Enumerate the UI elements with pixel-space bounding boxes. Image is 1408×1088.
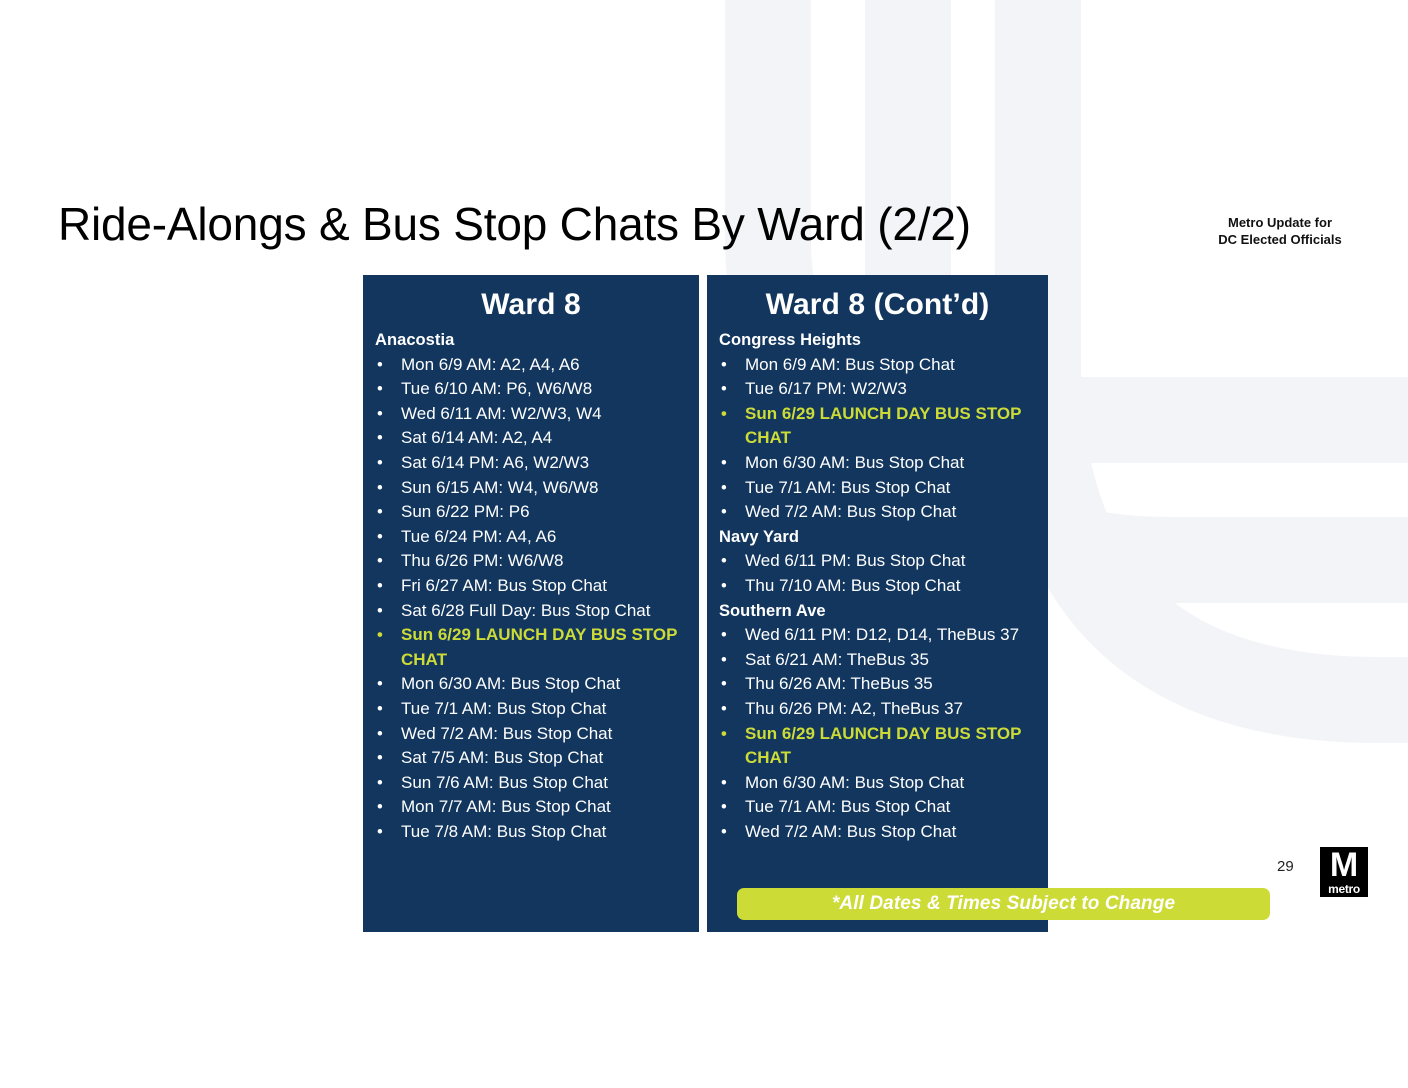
list-item-label: Thu 6/26 PM: W6/W8: [401, 549, 691, 574]
list-item-label: Wed 6/11 PM: Bus Stop Chat: [745, 549, 1040, 574]
list-item-label: Wed 7/2 AM: Bus Stop Chat: [745, 500, 1040, 525]
list-item: •Thu 6/26 AM: TheBus 35: [719, 672, 1040, 697]
list-item: •Sun 6/22 PM: P6: [375, 500, 691, 525]
bullet-icon: •: [375, 771, 401, 796]
bullet-icon: •: [375, 525, 401, 550]
list-item: •Mon 6/9 AM: Bus Stop Chat: [719, 353, 1040, 378]
list-item: •Mon 6/30 AM: Bus Stop Chat: [375, 672, 691, 697]
list-item: •Mon 6/30 AM: Bus Stop Chat: [719, 771, 1040, 796]
list-item: •Sun 6/29 LAUNCH DAY BUS STOP CHAT: [375, 623, 691, 672]
deck-header: Metro Update for DC Elected Officials: [1180, 214, 1380, 248]
bullet-icon: •: [375, 697, 401, 722]
bullet-icon: •: [719, 648, 745, 673]
bullet-icon: •: [375, 402, 401, 427]
list-item: •Tue 7/1 AM: Bus Stop Chat: [719, 476, 1040, 501]
metro-logo: M metro: [1320, 847, 1368, 897]
list-item: •Sat 6/21 AM: TheBus 35: [719, 648, 1040, 673]
group-heading: Navy Yard: [719, 525, 1040, 550]
list-item-label: Mon 6/30 AM: Bus Stop Chat: [745, 771, 1040, 796]
bullet-icon: •: [375, 599, 401, 624]
list-item: •Sun 6/15 AM: W4, W6/W8: [375, 476, 691, 501]
list-item: •Sun 7/6 AM: Bus Stop Chat: [375, 771, 691, 796]
list-item: •Sat 7/5 AM: Bus Stop Chat: [375, 746, 691, 771]
bullet-icon: •: [375, 746, 401, 771]
list-item-label: Wed 6/11 PM: D12, D14, TheBus 37: [745, 623, 1040, 648]
panel-body-ward-8-contd: Congress Heights•Mon 6/9 AM: Bus Stop Ch…: [707, 323, 1048, 844]
list-item-label: Sat 7/5 AM: Bus Stop Chat: [401, 746, 691, 771]
bullet-icon: •: [719, 476, 745, 501]
list-item: •Tue 6/10 AM: P6, W6/W8: [375, 377, 691, 402]
list-item: •Wed 6/11 PM: D12, D14, TheBus 37: [719, 623, 1040, 648]
list-item-label: Thu 6/26 PM: A2, TheBus 37: [745, 697, 1040, 722]
list-item: •Sat 6/14 PM: A6, W2/W3: [375, 451, 691, 476]
list-item-label: Mon 6/9 AM: Bus Stop Chat: [745, 353, 1040, 378]
bullet-icon: •: [375, 795, 401, 820]
list-item: •Sun 6/29 LAUNCH DAY BUS STOP CHAT: [719, 722, 1040, 771]
bullet-icon: •: [375, 500, 401, 525]
bullet-icon: •: [719, 795, 745, 820]
list-item-label: Sun 7/6 AM: Bus Stop Chat: [401, 771, 691, 796]
list-item-label: Tue 7/1 AM: Bus Stop Chat: [401, 697, 691, 722]
list-item-label: Mon 6/30 AM: Bus Stop Chat: [401, 672, 691, 697]
list-item-label: Tue 6/10 AM: P6, W6/W8: [401, 377, 691, 402]
list-item-label: Sun 6/29 LAUNCH DAY BUS STOP CHAT: [401, 623, 691, 672]
page-number: 29: [1277, 858, 1294, 875]
bullet-icon: •: [719, 549, 745, 574]
list-item: •Sat 6/28 Full Day: Bus Stop Chat: [375, 599, 691, 624]
bullet-icon: •: [719, 820, 745, 845]
bullet-icon: •: [375, 426, 401, 451]
bullet-icon: •: [719, 574, 745, 599]
bullet-icon: •: [719, 377, 745, 402]
list-item: •Tue 7/8 AM: Bus Stop Chat: [375, 820, 691, 845]
list-item-label: Sun 6/29 LAUNCH DAY BUS STOP CHAT: [745, 722, 1040, 771]
list-item-label: Thu 7/10 AM: Bus Stop Chat: [745, 574, 1040, 599]
list-item: •Wed 7/2 AM: Bus Stop Chat: [719, 500, 1040, 525]
panel-body-ward-8: Anacostia•Mon 6/9 AM: A2, A4, A6•Tue 6/1…: [363, 323, 699, 844]
list-item: •Wed 6/11 PM: Bus Stop Chat: [719, 549, 1040, 574]
list-item: •Tue 7/1 AM: Bus Stop Chat: [719, 795, 1040, 820]
list-item: •Mon 6/30 AM: Bus Stop Chat: [719, 451, 1040, 476]
list-item: •Thu 6/26 PM: A2, TheBus 37: [719, 697, 1040, 722]
bullet-icon: •: [719, 402, 745, 427]
list-item: •Tue 6/24 PM: A4, A6: [375, 525, 691, 550]
list-item-label: Thu 6/26 AM: TheBus 35: [745, 672, 1040, 697]
list-item-label: Mon 7/7 AM: Bus Stop Chat: [401, 795, 691, 820]
list-item: •Tue 7/1 AM: Bus Stop Chat: [375, 697, 691, 722]
list-item: •Sat 6/14 AM: A2, A4: [375, 426, 691, 451]
bullet-icon: •: [719, 353, 745, 378]
list-item-label: Sun 6/22 PM: P6: [401, 500, 691, 525]
list-item: •Mon 6/9 AM: A2, A4, A6: [375, 353, 691, 378]
bullet-icon: •: [375, 722, 401, 747]
list-item-label: Wed 6/11 AM: W2/W3, W4: [401, 402, 691, 427]
list-item: •Sun 6/29 LAUNCH DAY BUS STOP CHAT: [719, 402, 1040, 451]
list-item: •Fri 6/27 AM: Bus Stop Chat: [375, 574, 691, 599]
bullet-icon: •: [375, 549, 401, 574]
list-item-label: Sat 6/14 AM: A2, A4: [401, 426, 691, 451]
list-item-label: Tue 7/1 AM: Bus Stop Chat: [745, 795, 1040, 820]
disclaimer-banner: *All Dates & Times Subject to Change: [737, 888, 1270, 920]
page-title: Ride-Alongs & Bus Stop Chats By Ward (2/…: [58, 196, 971, 252]
list-item-label: Sat 6/14 PM: A6, W2/W3: [401, 451, 691, 476]
list-item-label: Fri 6/27 AM: Bus Stop Chat: [401, 574, 691, 599]
list-item-label: Tue 7/1 AM: Bus Stop Chat: [745, 476, 1040, 501]
list-item-label: Mon 6/9 AM: A2, A4, A6: [401, 353, 691, 378]
bullet-icon: •: [375, 377, 401, 402]
list-item-label: Sat 6/21 AM: TheBus 35: [745, 648, 1040, 673]
metro-logo-mark: M: [1320, 848, 1368, 882]
panel-ward-8: Ward 8 Anacostia•Mon 6/9 AM: A2, A4, A6•…: [363, 275, 699, 932]
list-item: •Thu 6/26 PM: W6/W8: [375, 549, 691, 574]
group-heading: Southern Ave: [719, 599, 1040, 624]
bullet-icon: •: [375, 820, 401, 845]
list-item-label: Sun 6/29 LAUNCH DAY BUS STOP CHAT: [745, 402, 1040, 451]
panel-title-ward-8: Ward 8: [363, 275, 699, 323]
list-item-label: Tue 7/8 AM: Bus Stop Chat: [401, 820, 691, 845]
list-item: •Wed 7/2 AM: Bus Stop Chat: [719, 820, 1040, 845]
list-item: •Wed 7/2 AM: Bus Stop Chat: [375, 722, 691, 747]
list-item: •Wed 6/11 AM: W2/W3, W4: [375, 402, 691, 427]
bullet-icon: •: [719, 697, 745, 722]
bullet-icon: •: [719, 722, 745, 747]
list-item-label: Tue 6/24 PM: A4, A6: [401, 525, 691, 550]
bullet-icon: •: [719, 451, 745, 476]
bullet-icon: •: [719, 500, 745, 525]
panel-title-ward-8-contd: Ward 8 (Cont’d): [707, 275, 1048, 323]
list-item-label: Tue 6/17 PM: W2/W3: [745, 377, 1040, 402]
list-item-label: Wed 7/2 AM: Bus Stop Chat: [745, 820, 1040, 845]
disclaimer-text: *All Dates & Times Subject to Change: [832, 893, 1175, 915]
bullet-icon: •: [375, 451, 401, 476]
group-heading: Congress Heights: [719, 328, 1040, 353]
deck-header-line1: Metro Update for: [1180, 214, 1380, 231]
bullet-icon: •: [375, 574, 401, 599]
group-heading: Anacostia: [375, 328, 691, 353]
list-item: •Tue 6/17 PM: W2/W3: [719, 377, 1040, 402]
list-item: •Mon 7/7 AM: Bus Stop Chat: [375, 795, 691, 820]
bullet-icon: •: [375, 623, 401, 648]
list-item-label: Wed 7/2 AM: Bus Stop Chat: [401, 722, 691, 747]
list-item-label: Sun 6/15 AM: W4, W6/W8: [401, 476, 691, 501]
list-item: •Thu 7/10 AM: Bus Stop Chat: [719, 574, 1040, 599]
bullet-icon: •: [719, 672, 745, 697]
panel-ward-8-contd: Ward 8 (Cont’d) Congress Heights•Mon 6/9…: [707, 275, 1048, 932]
bullet-icon: •: [375, 353, 401, 378]
list-item-label: Sat 6/28 Full Day: Bus Stop Chat: [401, 599, 691, 624]
bullet-icon: •: [375, 476, 401, 501]
bullet-icon: •: [719, 623, 745, 648]
metro-logo-wordmark: metro: [1320, 883, 1368, 895]
deck-header-line2: DC Elected Officials: [1180, 231, 1380, 248]
bullet-icon: •: [719, 771, 745, 796]
list-item-label: Mon 6/30 AM: Bus Stop Chat: [745, 451, 1040, 476]
bullet-icon: •: [375, 672, 401, 697]
